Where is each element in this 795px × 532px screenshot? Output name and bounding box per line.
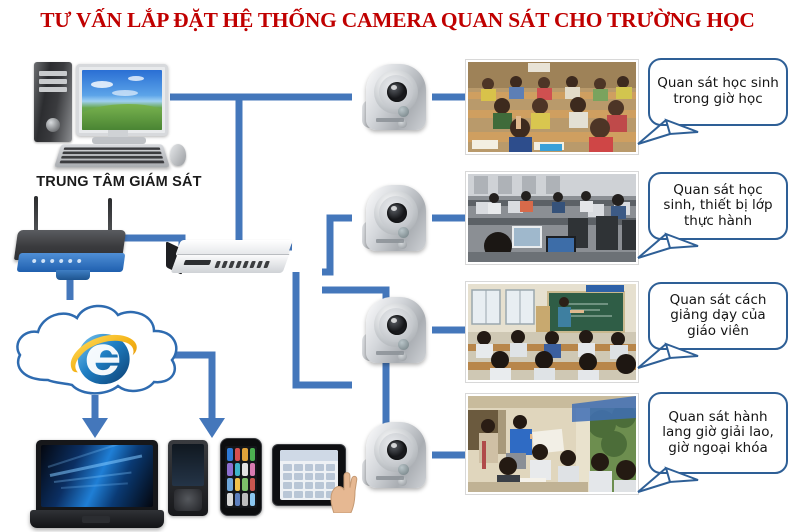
callout-1-text: Quan sát học sinh trong giờ học <box>650 76 786 107</box>
arrow-to-mobiles <box>199 418 225 438</box>
internet-explorer-logo <box>66 322 140 396</box>
tablet-device <box>272 444 346 506</box>
callout-1: Quan sát học sinh trong giờ học <box>648 58 788 126</box>
pc-keyboard <box>54 144 170 167</box>
network-switch <box>178 240 298 280</box>
pc-monitor <box>76 64 168 136</box>
pc-tower <box>34 62 72 142</box>
callout-4: Quan sát hành lang giờ giải lao, giờ ngo… <box>648 392 788 474</box>
camera-2 <box>358 181 432 255</box>
callout-3-tail <box>636 342 706 378</box>
internet-cloud <box>8 296 184 400</box>
callout-4-text: Quan sát hành lang giờ giải lao, giờ ngo… <box>650 410 786 457</box>
callout-4-tail <box>636 466 706 502</box>
photo-teacher-blackboard <box>466 282 638 382</box>
diagram-canvas: TƯ VẤN LẮP ĐẶT HỆ THỐNG CAMERA QUAN SÁT … <box>0 0 795 520</box>
smartphone-device <box>220 438 262 516</box>
monitoring-center-label: TRUNG TÂM GIÁM SÁT <box>24 174 214 190</box>
photo-computer-lab <box>466 172 638 264</box>
callout-1-tail <box>636 118 706 154</box>
monitoring-center-group: TRUNG TÂM GIÁM SÁT <box>24 56 214 196</box>
photo-school-corridor <box>466 394 638 494</box>
callout-2-tail <box>636 232 706 268</box>
wireless-router <box>16 196 136 286</box>
pc-mouse <box>170 144 186 166</box>
photo-classroom-1 <box>466 60 638 154</box>
monitor-screen <box>82 70 162 130</box>
callout-2-text: Quan sát học sinh, thiết bị lớp thực hàn… <box>650 183 786 230</box>
laptop-device <box>30 440 170 532</box>
callout-3: Quan sát cách giảng dạy của giáo viên <box>648 282 788 350</box>
callout-3-text: Quan sát cách giảng dạy của giáo viên <box>650 293 786 340</box>
pda-phone-device <box>168 440 208 516</box>
camera-3 <box>358 293 432 367</box>
camera-1 <box>358 60 432 134</box>
arrow-to-laptop <box>82 418 108 438</box>
hand-icon <box>327 469 361 513</box>
camera-4 <box>358 418 432 492</box>
callout-2: Quan sát học sinh, thiết bị lớp thực hàn… <box>648 172 788 240</box>
